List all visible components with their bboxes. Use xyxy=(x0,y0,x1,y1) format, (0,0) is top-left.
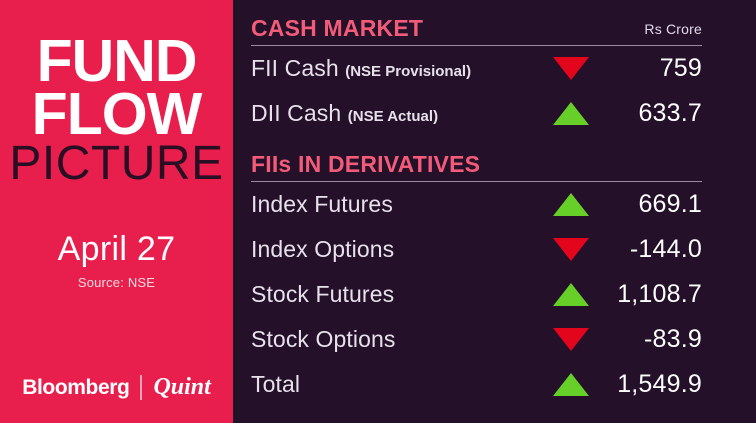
date-block: April 27 Source: NSE xyxy=(0,232,233,290)
brand-logo: Bloomberg Quint xyxy=(0,374,233,401)
row-label: Index Options xyxy=(251,236,548,263)
row-value: -83.9 xyxy=(594,325,702,354)
row-label: FII Cash (NSE Provisional) xyxy=(251,55,548,82)
table-row: Stock Futures 1,108.7 xyxy=(251,272,702,317)
trend-indicator xyxy=(548,102,594,125)
row-label-qualifier: (NSE Actual) xyxy=(348,108,438,125)
row-label: DII Cash (NSE Actual) xyxy=(251,100,548,127)
table-row: FII Cash (NSE Provisional) 759 xyxy=(251,46,702,91)
trend-indicator xyxy=(548,238,594,261)
section-title: CASH MARKET xyxy=(251,16,423,40)
headline-line-1: FUND xyxy=(0,36,233,87)
row-value: 669.1 xyxy=(594,190,702,219)
row-label: Index Futures xyxy=(251,191,548,218)
trend-indicator xyxy=(548,193,594,216)
table-row: Stock Options -83.9 xyxy=(251,317,702,362)
logo-bloomberg: Bloomberg xyxy=(22,376,129,400)
section-header: CASH MARKET Rs Crore xyxy=(251,16,702,40)
triangle-up-icon xyxy=(553,373,589,396)
trend-indicator xyxy=(548,328,594,351)
data-source: Source: NSE xyxy=(0,275,233,290)
triangle-down-icon xyxy=(553,238,589,261)
row-value: 1,108.7 xyxy=(594,280,702,309)
row-label-qualifier: (NSE Provisional) xyxy=(345,63,471,80)
section-cash-market: CASH MARKET Rs Crore FII Cash (NSE Provi… xyxy=(251,16,702,136)
table-row: Index Futures 669.1 xyxy=(251,182,702,227)
trend-indicator xyxy=(548,283,594,306)
table-row: Total 1,549.9 xyxy=(251,362,702,407)
triangle-up-icon xyxy=(553,102,589,125)
headline-block: FUND FLOW PICTURE xyxy=(0,36,233,187)
row-value: 633.7 xyxy=(594,99,702,128)
row-label-text: FII Cash xyxy=(251,55,339,81)
section-title: FIIs IN DERIVATIVES xyxy=(251,152,480,176)
row-label: Total xyxy=(251,371,548,398)
logo-divider xyxy=(140,375,142,400)
headline-line-2: FLOW xyxy=(0,89,233,140)
row-label: Stock Options xyxy=(251,326,548,353)
section-fiis-in-derivatives: FIIs IN DERIVATIVES Index Futures 669.1 … xyxy=(251,152,702,407)
report-date: April 27 xyxy=(0,232,233,268)
trend-indicator xyxy=(548,373,594,396)
triangle-up-icon xyxy=(553,193,589,216)
data-panel: CASH MARKET Rs Crore FII Cash (NSE Provi… xyxy=(233,0,756,423)
fund-flow-infographic: FUND FLOW PICTURE April 27 Source: NSE B… xyxy=(0,0,756,423)
row-label: Stock Futures xyxy=(251,281,548,308)
table-row: Index Options -144.0 xyxy=(251,227,702,272)
table-row: DII Cash (NSE Actual) 633.7 xyxy=(251,91,702,136)
headline-line-3: PICTURE xyxy=(0,141,233,187)
triangle-down-icon xyxy=(553,57,589,80)
triangle-down-icon xyxy=(553,328,589,351)
logo-quint: Quint xyxy=(153,374,210,401)
triangle-up-icon xyxy=(553,283,589,306)
row-value: 1,549.9 xyxy=(594,370,702,399)
section-unit-label: Rs Crore xyxy=(644,21,702,40)
section-header: FIIs IN DERIVATIVES xyxy=(251,152,702,176)
row-value: -144.0 xyxy=(594,235,702,264)
title-panel: FUND FLOW PICTURE April 27 Source: NSE B… xyxy=(0,0,233,423)
trend-indicator xyxy=(548,57,594,80)
row-label-text: DII Cash xyxy=(251,100,341,126)
row-value: 759 xyxy=(594,54,702,83)
